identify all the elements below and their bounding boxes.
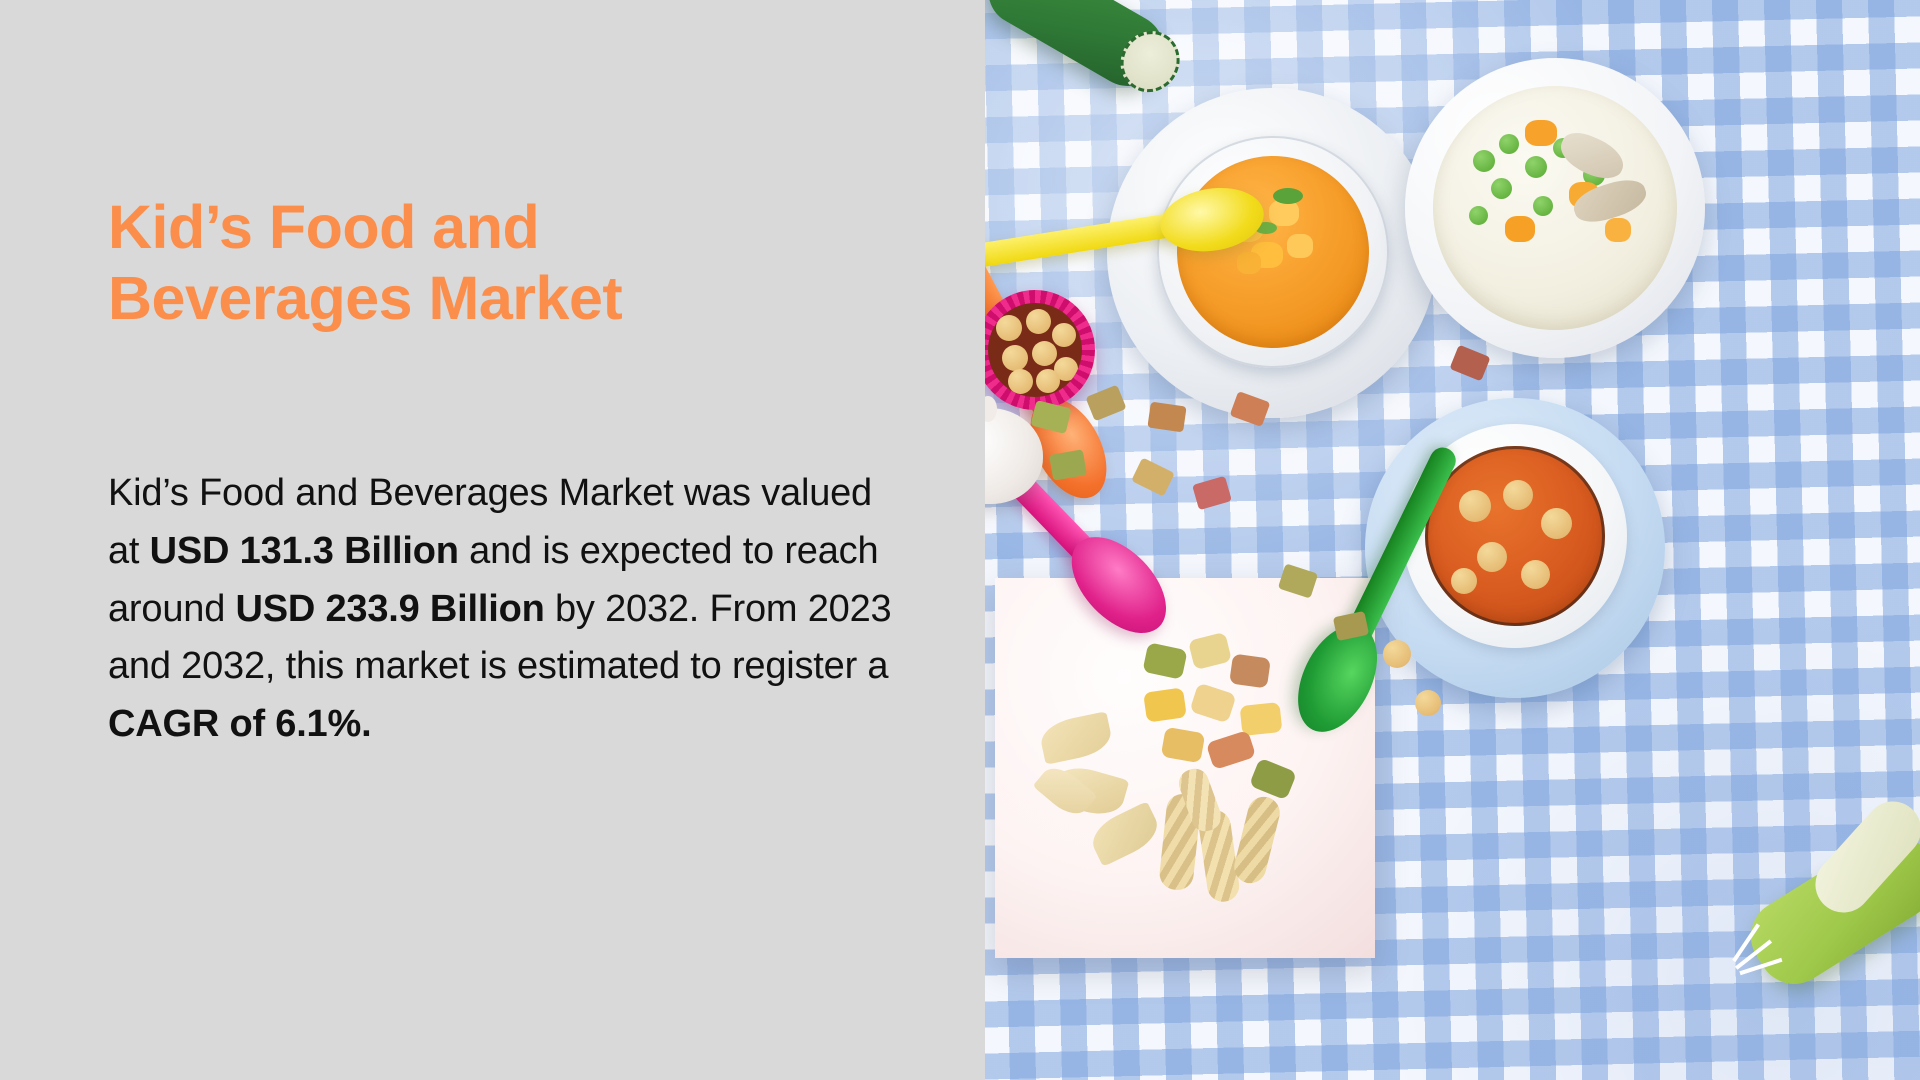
slide-root: Kid’s Food and Beverages Market Kid’s Fo… xyxy=(0,0,1920,1080)
market-value-2023: USD 131.3 Billion xyxy=(150,530,459,572)
scattered-chickpea xyxy=(1415,690,1441,716)
creamy-chicken-pea-soup xyxy=(1433,86,1677,330)
market-summary-paragraph: Kid’s Food and Beverages Market was valu… xyxy=(108,465,898,754)
cagr-value: CAGR of 6.1%. xyxy=(108,703,371,745)
pink-silicone-cup-chickpeas xyxy=(985,290,1095,410)
scattered-chickpea xyxy=(1383,640,1411,668)
page-title: Kid’s Food and Beverages Market xyxy=(108,192,868,335)
text-panel: Kid’s Food and Beverages Market Kid’s Fo… xyxy=(0,0,985,1080)
kids-food-photo xyxy=(985,0,1920,1080)
headline-line-1: Kid’s Food and xyxy=(108,193,539,261)
scattered-pasta-shape xyxy=(1147,402,1186,433)
headline-line-2: Beverages Market xyxy=(108,264,622,332)
market-value-2032: USD 233.9 Billion xyxy=(235,588,544,630)
